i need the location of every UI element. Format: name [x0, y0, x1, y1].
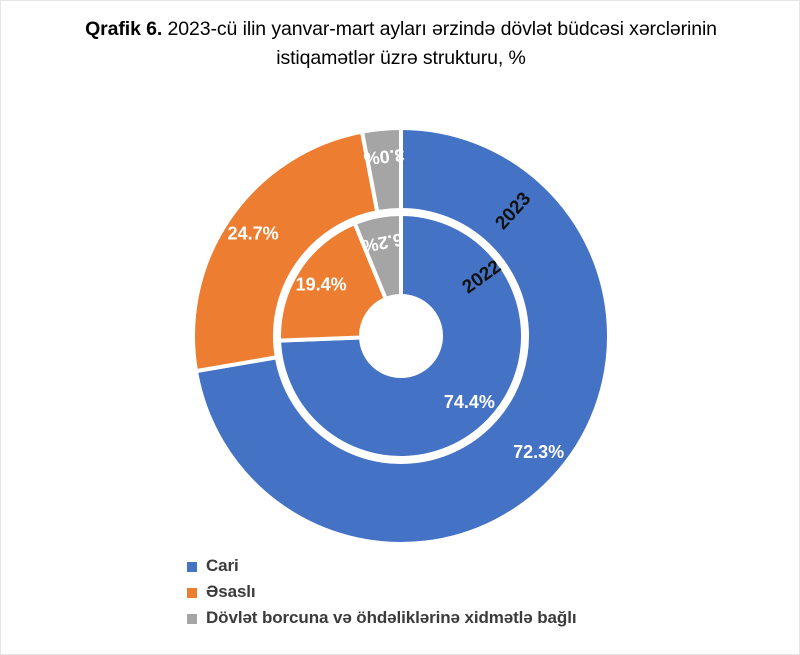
slice-value-label: 19.4%: [296, 275, 347, 295]
chart-page: Qrafik 6. 2023-cü ilin yanvar-mart aylar…: [0, 0, 800, 655]
square-marker-icon: [187, 562, 197, 572]
donut-chart-svg: 72.3%24.7%3.0%74.4%19.4%6.2% 20232022: [1, 93, 800, 553]
outer-ring-2023: [193, 128, 609, 544]
legend-item[interactable]: Dövlət borcuna və öhdəliklərinə xidmətlə…: [187, 605, 747, 631]
slice-value-label: 24.7%: [228, 223, 279, 243]
legend-item[interactable]: Əsaslı: [187, 579, 747, 605]
slice-value-label: 74.4%: [444, 392, 495, 412]
square-marker-icon: [187, 588, 197, 598]
legend-item-label: Əsaslı: [206, 582, 256, 602]
square-marker-icon: [187, 614, 197, 624]
legend: CariƏsaslıDövlət borcuna və öhdəliklərin…: [187, 553, 747, 631]
legend-item-label: Cari: [206, 556, 239, 576]
chart-title-text: 2023-cü ilin yanvar-mart ayları ərzində …: [162, 18, 717, 69]
slice-value-label: 3.0%: [363, 145, 406, 169]
legend-item-label: Dövlət borcuna və öhdəliklərinə xidmətlə…: [206, 608, 576, 628]
slice-value-label: 72.3%: [513, 442, 564, 462]
donut-chart: 72.3%24.7%3.0%74.4%19.4%6.2% 20232022: [1, 93, 800, 553]
legend-item[interactable]: Cari: [187, 553, 747, 579]
chart-title-prefix: Qrafik 6.: [85, 18, 162, 40]
inner-ring-2022: [279, 214, 523, 458]
page-title: Qrafik 6. 2023-cü ilin yanvar-mart aylar…: [61, 15, 741, 73]
